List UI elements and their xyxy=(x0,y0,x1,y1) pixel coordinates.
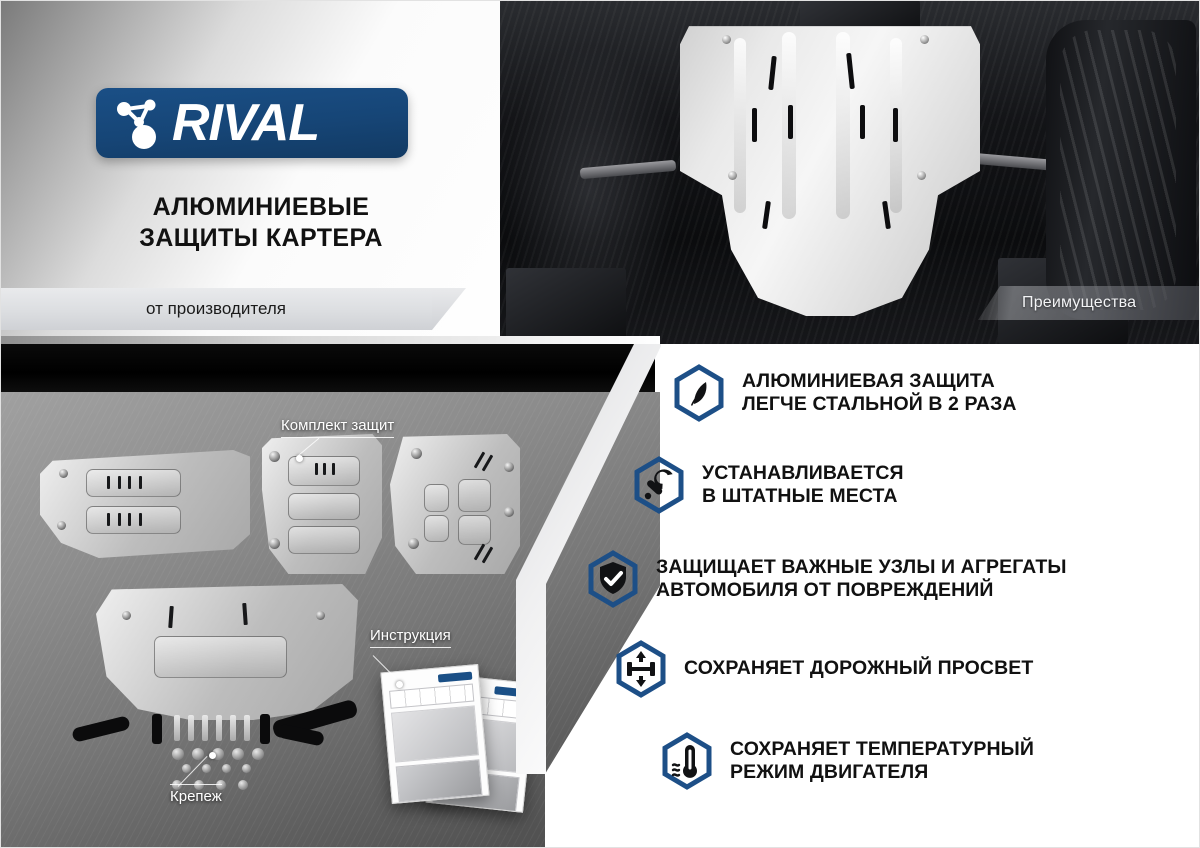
advantage-item: ЗАЩИЩАЕТ ВАЖНЫЕ УЗЛЫ И АГРЕГАТЫ АВТОМОБИ… xyxy=(584,548,1192,610)
advantage-item: СОХРАНЯЕТ ТЕМПЕРАТУРНЫЙ РЕЖИМ ДВИГАТЕЛЯ xyxy=(658,730,1192,792)
advantages-ribbon-text: Преимущества xyxy=(978,294,1136,312)
advantages-list: АЛЮМИНИЕВАЯ ЗАЩИТА ЛЕГЧЕ СТАЛЬНОЙ В 2 РА… xyxy=(612,362,1192,804)
callout-instruction-label: Инструкция xyxy=(370,627,451,644)
callout-kit-label: Комплект защит xyxy=(281,417,394,434)
advantage-line1: СОХРАНЯЕТ ТЕМПЕРАТУРНЫЙ xyxy=(730,738,1034,761)
advantage-line1: ЗАЩИЩАЕТ ВАЖНЫЕ УЗЛЫ И АГРЕГАТЫ xyxy=(656,556,1067,579)
skid-plate xyxy=(40,450,250,558)
marketing-poster: Преимущества RIVAL АЛЮМИНИЕВЫЕ ЗАЩИТЫ КА… xyxy=(0,0,1200,848)
skid-plate xyxy=(390,434,520,574)
advantage-line2: АВТОМОБИЛЯ ОТ ПОВРЕЖДЕНИЙ xyxy=(656,579,1067,602)
leaf-icon xyxy=(670,362,728,424)
callout-fasteners: Крепеж xyxy=(170,784,222,805)
shield-check-icon xyxy=(584,548,642,610)
advantage-line1: СОХРАНЯЕТ ДОРОЖНЫЙ ПРОСВЕТ xyxy=(684,657,1033,680)
advantage-item: УСТАНАВЛИВАЕТСЯ В ШТАТНЫЕ МЕСТА xyxy=(630,454,1192,516)
callout-fasteners-dot xyxy=(209,752,216,759)
advantage-item: АЛЮМИНИЕВАЯ ЗАЩИТА ЛЕГЧЕ СТАЛЬНОЙ В 2 РА… xyxy=(670,362,1192,424)
page-title-line1: АЛЮМИНИЕВЫЕ xyxy=(96,192,426,223)
rival-logo: RIVAL xyxy=(96,88,408,158)
rival-wordmark: RIVAL xyxy=(172,97,319,149)
advantage-line2: ЛЕГЧЕ СТАЛЬНОЙ В 2 РАЗА xyxy=(742,393,1017,416)
chassis-part xyxy=(506,268,626,344)
ground-clearance-icon xyxy=(612,638,670,700)
callout-kit: Комплект защит xyxy=(281,417,394,438)
thermometer-icon xyxy=(658,730,716,792)
callout-instruction: Инструкция xyxy=(370,627,451,648)
advantages-ribbon-label: Преимущества xyxy=(978,286,1200,320)
subtitle-text: от производителя xyxy=(146,299,286,319)
subtitle-band: от производителя xyxy=(0,288,432,330)
advantage-line2: РЕЖИМ ДВИГАТЕЛЯ xyxy=(730,761,1034,784)
advantage-item: СОХРАНЯЕТ ДОРОЖНЫЙ ПРОСВЕТ xyxy=(612,638,1192,700)
skid-plate xyxy=(262,434,382,574)
page-title: АЛЮМИНИЕВЫЕ ЗАЩИТЫ КАРТЕРА xyxy=(96,192,426,253)
vehicle-underbody-photo: Преимущества xyxy=(500,0,1200,344)
page-title-line2: ЗАЩИТЫ КАРТЕРА xyxy=(96,223,426,254)
molecule-icon xyxy=(110,93,174,153)
advantage-line1: АЛЮМИНИЕВАЯ ЗАЩИТА xyxy=(742,370,1017,393)
tyre xyxy=(1046,20,1196,320)
callout-instruction-dot xyxy=(396,681,403,688)
skid-plate-large xyxy=(96,584,358,720)
divider-dark xyxy=(0,344,655,392)
callout-fasteners-label: Крепеж xyxy=(170,788,222,805)
wrench-icon xyxy=(630,454,688,516)
advantage-line2: В ШТАТНЫЕ МЕСТА xyxy=(702,485,904,508)
advantage-line1: УСТАНАВЛИВАЕТСЯ xyxy=(702,462,904,485)
